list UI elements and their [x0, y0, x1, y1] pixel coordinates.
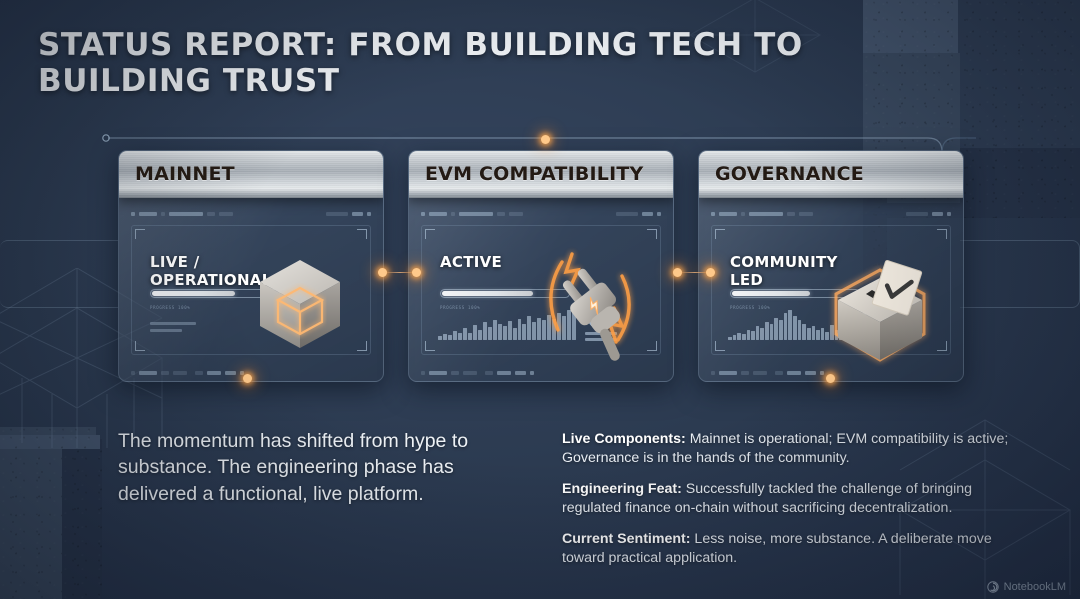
- hud-tick: [642, 212, 653, 216]
- status-panel-governance[interactable]: GOVERNANCE: [698, 150, 964, 382]
- mini-bar: [478, 330, 482, 340]
- mini-bar: [733, 335, 737, 340]
- hud-tick: [741, 371, 749, 375]
- progress-caption: PROGRESS 100%: [150, 305, 190, 310]
- hud-microline: [150, 322, 196, 325]
- bullet-item-live-components: Live Components: Mainnet is operational;…: [562, 430, 1012, 468]
- lede-paragraph: The momentum has shifted from hype to su…: [118, 428, 538, 507]
- mini-bar: [438, 336, 442, 340]
- concrete-slab-bottom-left-3: [0, 435, 100, 449]
- hud-tick: [169, 212, 203, 216]
- hud-tick: [207, 212, 215, 216]
- status-panel-group: MAINNET: [118, 150, 964, 382]
- mini-bar: [798, 320, 802, 340]
- connector-node: [243, 374, 252, 383]
- panel-hud-mainnet: LIVE / OPERATIONAL PROGRESS 100%: [119, 201, 383, 381]
- hud-tick: [741, 212, 745, 216]
- hud-tick: [820, 371, 824, 375]
- panel-hud-governance: COMMUNITY LED PROGRESS 100%: [699, 201, 963, 381]
- mini-bar: [498, 324, 502, 340]
- hud-tick: [207, 371, 221, 375]
- mini-bar: [765, 322, 769, 340]
- page-title: STATUS REPORT: FROM BUILDING TECH TO BUI…: [38, 28, 838, 100]
- mini-bar: [784, 313, 788, 340]
- bracket-icon: [425, 341, 435, 351]
- progress-fill: [732, 291, 810, 296]
- mini-bar: [453, 331, 457, 340]
- hud-tick: [326, 212, 348, 216]
- hud-tick: [616, 212, 638, 216]
- hud-tick: [459, 212, 493, 216]
- hud-tick: [530, 371, 534, 375]
- connector-node: [826, 374, 835, 383]
- concrete-cube-icon: [236, 238, 364, 368]
- hud-tick: [749, 212, 783, 216]
- hud-microline: [150, 329, 182, 332]
- hud-tick: [195, 371, 203, 375]
- bracket-icon: [135, 341, 145, 351]
- status-panel-mainnet[interactable]: MAINNET: [118, 150, 384, 382]
- hud-tick: [497, 212, 505, 216]
- watermark-label: NotebookLM: [1004, 581, 1066, 593]
- hud-tick: [219, 212, 233, 216]
- mini-bar: [518, 319, 522, 340]
- hud-tick: [131, 212, 135, 216]
- hud-tick: [787, 212, 795, 216]
- connector-node: [412, 268, 421, 277]
- mini-bar: [513, 328, 517, 340]
- mini-bar: [756, 326, 760, 340]
- bracket-icon: [715, 229, 725, 239]
- bracket-icon: [135, 229, 145, 239]
- mini-bar: [493, 320, 497, 340]
- hud-tick: [451, 212, 455, 216]
- hud-tick: [367, 212, 371, 216]
- mini-bar: [774, 318, 778, 340]
- bullet-label: Current Sentiment:: [562, 531, 690, 547]
- hud-tick: [485, 371, 493, 375]
- hud-tick: [139, 212, 157, 216]
- mini-bar: [463, 328, 467, 340]
- connector-whisker-left: [0, 240, 118, 308]
- connector-node: [541, 135, 550, 144]
- bracket-icon: [715, 341, 725, 351]
- hud-tick: [429, 371, 447, 375]
- hud-tick: [947, 212, 951, 216]
- hud-tick: [161, 371, 169, 375]
- bracket-icon: [425, 229, 435, 239]
- power-plug-icon: [526, 238, 654, 368]
- hud-tick: [451, 371, 459, 375]
- hud-tick: [711, 212, 715, 216]
- mini-bar: [747, 330, 751, 340]
- panel-hud-evm: ACTIVE PROGRESS 100%: [409, 201, 673, 381]
- panel-header-plate-evm: EVM COMPATIBILITY: [408, 150, 674, 198]
- mini-bar: [728, 337, 732, 340]
- notebooklm-logo-icon: [987, 581, 999, 593]
- hud-tick: [352, 212, 363, 216]
- hud-tick: [657, 212, 661, 216]
- hud-tick: [173, 371, 187, 375]
- mini-bar: [807, 328, 811, 340]
- mini-bar: [488, 327, 492, 340]
- ballot-box-check-icon: [816, 238, 944, 368]
- hud-tick: [161, 212, 165, 216]
- hud-tick: [711, 371, 715, 375]
- hud-toolbar-top: [131, 209, 371, 219]
- panel-header-plate-mainnet: MAINNET: [118, 150, 384, 198]
- hud-tick: [131, 371, 135, 375]
- hud-tick: [421, 212, 425, 216]
- panel-screen-mainnet: LIVE / OPERATIONAL PROGRESS 100%: [131, 225, 371, 355]
- panel-header-label: GOVERNANCE: [715, 163, 864, 185]
- hud-tick: [515, 371, 526, 375]
- panel-header-label: MAINNET: [135, 163, 235, 185]
- mini-bar: [793, 316, 797, 340]
- notebooklm-watermark: NotebookLM: [987, 581, 1066, 593]
- progress-fill: [442, 291, 533, 296]
- connector-node: [706, 268, 715, 277]
- progress-fill: [152, 291, 235, 296]
- panel-header-plate-governance: GOVERNANCE: [698, 150, 964, 198]
- mini-bar: [779, 320, 783, 340]
- mini-bar: [448, 335, 452, 340]
- concrete-slab-top-right-3: [863, 0, 958, 55]
- mini-bar: [802, 324, 806, 340]
- connector-link: [385, 272, 415, 273]
- mini-bar: [788, 310, 792, 340]
- hud-tick: [753, 371, 767, 375]
- mini-bar: [770, 324, 774, 340]
- hud-tick: [225, 371, 236, 375]
- mini-bar: [508, 321, 512, 340]
- hud-tick: [805, 371, 816, 375]
- hud-toolbar-top: [711, 209, 951, 219]
- mini-bar: [812, 326, 816, 340]
- hud-tick: [775, 371, 783, 375]
- bullet-item-engineering-feat: Engineering Feat: Successfully tackled t…: [562, 480, 1012, 518]
- bullet-item-current-sentiment: Current Sentiment: Less noise, more subs…: [562, 530, 1012, 568]
- connector-whisker-right: [960, 240, 1080, 308]
- mini-bar: [503, 326, 507, 340]
- mini-bar: [443, 334, 447, 340]
- mini-bar: [458, 333, 462, 340]
- hud-tick: [906, 212, 928, 216]
- mini-bar: [468, 333, 472, 340]
- mini-bar: [737, 333, 741, 340]
- panel-header-label: EVM COMPATIBILITY: [425, 163, 644, 185]
- hud-tick: [463, 371, 477, 375]
- panel-screen-governance: COMMUNITY LED PROGRESS 100%: [711, 225, 951, 355]
- bullet-label: Live Components:: [562, 431, 686, 447]
- panel-screen-evm: ACTIVE PROGRESS 100%: [421, 225, 661, 355]
- hud-tick: [421, 371, 425, 375]
- hud-tick: [799, 212, 813, 216]
- bullet-list: Live Components: Mainnet is operational;…: [562, 430, 1012, 580]
- hud-tick: [932, 212, 943, 216]
- infographic-canvas: STATUS REPORT: FROM BUILDING TECH TO BUI…: [0, 0, 1080, 599]
- status-panel-evm-compatibility[interactable]: EVM COMPATIBILITY: [408, 150, 674, 382]
- concrete-slab-bottom-left-2: [62, 439, 102, 599]
- hud-tick: [139, 371, 157, 375]
- hud-toolbar-top: [421, 209, 661, 219]
- mini-bar: [473, 325, 477, 340]
- hud-tick: [509, 212, 523, 216]
- hud-tick: [429, 212, 447, 216]
- hud-tick: [787, 371, 801, 375]
- hud-tick: [719, 371, 737, 375]
- hud-toolbar-bottom: [421, 369, 661, 377]
- hud-tick: [497, 371, 511, 375]
- bullet-label: Engineering Feat:: [562, 481, 682, 497]
- hud-tick: [719, 212, 737, 216]
- mini-bar: [760, 328, 764, 340]
- mini-bar: [751, 331, 755, 340]
- panel-status-text: ACTIVE: [440, 254, 502, 272]
- mini-bar: [742, 334, 746, 340]
- mini-bar: [483, 322, 487, 340]
